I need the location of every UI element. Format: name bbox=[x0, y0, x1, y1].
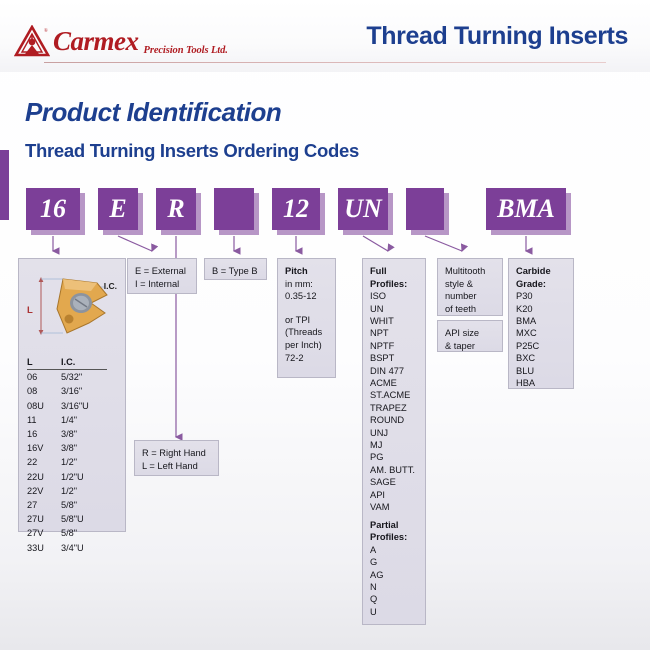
dimension-table-row: 27U5/8"U bbox=[27, 512, 119, 526]
brand-logo: ® Carmex Precision Tools Ltd. bbox=[14, 24, 228, 58]
pitch-mm-label: in mm: bbox=[285, 278, 328, 291]
dimension-table-header: LI.C. bbox=[27, 355, 119, 370]
header-divider bbox=[44, 62, 606, 63]
partial-profile-item: Q bbox=[370, 593, 418, 605]
internal-line: I = Internal bbox=[135, 278, 189, 291]
dimension-cell: 5/8" bbox=[61, 498, 107, 512]
dimension-table-row: 22V1/2" bbox=[27, 484, 119, 498]
dimension-cell: 06 bbox=[27, 370, 61, 384]
partial-profiles-title-1: Partial bbox=[370, 519, 418, 532]
full-profile-item: PG bbox=[370, 451, 418, 463]
dimension-cell: 3/4"U bbox=[61, 541, 107, 555]
partial-profiles-list: AGAGNQU bbox=[370, 544, 418, 618]
ic-dimension-label: I.C. bbox=[104, 281, 117, 291]
multitooth-line-2: style & bbox=[445, 278, 495, 291]
type-line: B = Type B bbox=[212, 265, 259, 278]
multitooth-line-4: of teeth bbox=[445, 303, 495, 316]
dimension-table-row: 065/32" bbox=[27, 370, 119, 384]
code-box-2: R bbox=[156, 188, 196, 230]
dimension-table-row: 08U3/16"U bbox=[27, 399, 119, 413]
pitch-tpi-note2: per Inch) bbox=[285, 339, 328, 352]
dimension-cell: 5/32" bbox=[61, 370, 107, 384]
dimension-table-row: 163/8" bbox=[27, 427, 119, 441]
dimension-table-row: 16V3/8" bbox=[27, 441, 119, 455]
dimension-table-row: 221/2" bbox=[27, 455, 119, 469]
carbide-grade-item: BXC bbox=[516, 352, 566, 364]
full-profile-item: MJ bbox=[370, 439, 418, 451]
code-box-0: 16 bbox=[26, 188, 80, 230]
full-profile-item: BSPT bbox=[370, 352, 418, 364]
dimension-header-cell: I.C. bbox=[61, 355, 107, 370]
partial-profile-item: N bbox=[370, 581, 418, 593]
dimension-cell: 5/8"U bbox=[61, 512, 107, 526]
brand-tagline: Precision Tools Ltd. bbox=[144, 45, 228, 56]
dimension-table-row: 083/16" bbox=[27, 384, 119, 398]
dimension-cell: 11 bbox=[27, 413, 61, 427]
pitch-tpi-range: 72-2 bbox=[285, 352, 328, 365]
dimension-table-row: 275/8" bbox=[27, 498, 119, 512]
carbide-grade-list: P30K20BMAMXCP25CBXCBLUHBA bbox=[516, 290, 566, 389]
section-subtitle: Thread Turning Inserts Ordering Codes bbox=[25, 140, 359, 162]
dimension-cell: 3/8" bbox=[61, 427, 107, 441]
carbide-grade-item: P25C bbox=[516, 340, 566, 352]
full-profiles-list: ISOUNWHITNPTNPTFBSPTDIN 477ACMEST.ACMETR… bbox=[370, 290, 418, 513]
insert-dimension-box: I.C. L LI.C.065/32"083/16"08U3/16"U111/4… bbox=[18, 258, 126, 532]
dimension-table-row: 111/4" bbox=[27, 413, 119, 427]
dimension-table: LI.C.065/32"083/16"08U3/16"U111/4"163/8"… bbox=[27, 355, 119, 555]
dimension-cell: 1/2"U bbox=[61, 470, 107, 484]
external-internal-box: E = External I = Internal bbox=[127, 258, 197, 294]
dimension-cell: 27V bbox=[27, 526, 61, 540]
full-profile-item: NPT bbox=[370, 327, 418, 339]
purple-accent-bar bbox=[0, 150, 9, 220]
pitch-mm-range: 0.35-12 bbox=[285, 290, 328, 303]
dimension-cell: 16 bbox=[27, 427, 61, 441]
code-box-1: E bbox=[98, 188, 138, 230]
dimension-table-row: 22U1/2"U bbox=[27, 470, 119, 484]
full-profile-item: WHIT bbox=[370, 315, 418, 327]
brand-name: Carmex bbox=[53, 28, 139, 55]
full-profile-item: ISO bbox=[370, 290, 418, 302]
full-profiles-title-1: Full bbox=[370, 265, 418, 278]
full-profile-item: VAM bbox=[370, 501, 418, 513]
hand-direction-box: R = Right Hand L = Left Hand bbox=[134, 440, 219, 476]
code-box-5: UN bbox=[338, 188, 388, 230]
full-profile-item: UNJ bbox=[370, 427, 418, 439]
pitch-tpi-note1: (Threads bbox=[285, 326, 328, 339]
full-profile-item: ST.ACME bbox=[370, 389, 418, 401]
api-size-box: API size & taper bbox=[437, 320, 503, 352]
profiles-box: Full Profiles: ISOUNWHITNPTNPTFBSPTDIN 4… bbox=[362, 258, 426, 625]
carbide-grade-box: Carbide Grade: P30K20BMAMXCP25CBXCBLUHBA bbox=[508, 258, 574, 389]
multitooth-box: Multitooth style & number of teeth bbox=[437, 258, 503, 316]
pitch-tpi-label: or TPI bbox=[285, 314, 328, 327]
dimension-cell: 16V bbox=[27, 441, 61, 455]
dimension-cell: 1/2" bbox=[61, 484, 107, 498]
full-profiles-title-2: Profiles: bbox=[370, 278, 418, 291]
dimension-cell: 22V bbox=[27, 484, 61, 498]
right-hand-line: R = Right Hand bbox=[142, 447, 211, 460]
carbide-grade-item: BMA bbox=[516, 315, 566, 327]
page-title: Thread Turning Inserts bbox=[366, 22, 628, 51]
dimension-cell: 3/8" bbox=[61, 441, 107, 455]
threading-insert-illustration-icon bbox=[19, 261, 127, 349]
full-profile-item: SAGE bbox=[370, 476, 418, 488]
dimension-cell: 3/16" bbox=[61, 384, 107, 398]
partial-profile-item: G bbox=[370, 556, 418, 568]
dimension-table-row: 33U3/4"U bbox=[27, 541, 119, 555]
dimension-cell: 3/16"U bbox=[61, 399, 107, 413]
dimension-cell: 22U bbox=[27, 470, 61, 484]
carbide-grade-item: MXC bbox=[516, 327, 566, 339]
full-profile-item: ROUND bbox=[370, 414, 418, 426]
dimension-cell: 27 bbox=[27, 498, 61, 512]
section-title: Product Identification bbox=[25, 97, 281, 128]
dimension-cell: 33U bbox=[27, 541, 61, 555]
partial-profiles-title-2: Profiles: bbox=[370, 531, 418, 544]
multitooth-line-3: number bbox=[445, 290, 495, 303]
full-profile-item: API bbox=[370, 489, 418, 501]
dimension-cell: 08U bbox=[27, 399, 61, 413]
partial-profile-item: A bbox=[370, 544, 418, 556]
code-box-7: BMA bbox=[486, 188, 566, 230]
carbide-title-2: Grade: bbox=[516, 278, 566, 291]
carbide-grade-item: BLU bbox=[516, 365, 566, 377]
dimension-cell: 1/4" bbox=[61, 413, 107, 427]
full-profile-item: ACME bbox=[370, 377, 418, 389]
dimension-header-cell: L bbox=[27, 355, 61, 370]
page-root: ® Carmex Precision Tools Ltd. Thread Tur… bbox=[0, 0, 650, 650]
external-line: E = External bbox=[135, 265, 189, 278]
pitch-box: Pitch in mm: 0.35-12 or TPI (Threads per… bbox=[277, 258, 336, 378]
partial-profile-item: U bbox=[370, 606, 418, 618]
pitch-title: Pitch bbox=[285, 265, 328, 278]
partial-profile-item: AG bbox=[370, 569, 418, 581]
full-profile-item: AM. BUTT. bbox=[370, 464, 418, 476]
dimension-table-row: 27V5/8" bbox=[27, 526, 119, 540]
carbide-title-1: Carbide bbox=[516, 265, 566, 278]
api-size-line: API size bbox=[445, 327, 495, 340]
dimension-cell: 1/2" bbox=[61, 455, 107, 469]
full-profile-item: DIN 477 bbox=[370, 365, 418, 377]
code-box-6 bbox=[406, 188, 444, 230]
dimension-cell: 27U bbox=[27, 512, 61, 526]
code-box-3 bbox=[214, 188, 254, 230]
multitooth-line-1: Multitooth bbox=[445, 265, 495, 278]
left-hand-line: L = Left Hand bbox=[142, 460, 211, 473]
carmex-triangle-logo-icon: ® bbox=[14, 25, 50, 57]
carbide-grade-item: P30 bbox=[516, 290, 566, 302]
page-header: ® Carmex Precision Tools Ltd. Thread Tur… bbox=[0, 0, 650, 72]
dimension-cell: 08 bbox=[27, 384, 61, 398]
carbide-grade-item: K20 bbox=[516, 303, 566, 315]
full-profile-item: NPTF bbox=[370, 340, 418, 352]
full-profile-item: TRAPEZ bbox=[370, 402, 418, 414]
l-dimension-label: L bbox=[27, 305, 33, 316]
dimension-cell: 22 bbox=[27, 455, 61, 469]
type-box: B = Type B bbox=[204, 258, 267, 280]
full-profile-item: UN bbox=[370, 303, 418, 315]
code-box-4: 12 bbox=[272, 188, 320, 230]
svg-text:®: ® bbox=[44, 28, 48, 34]
api-taper-line: & taper bbox=[445, 340, 495, 353]
carbide-grade-item: HBA bbox=[516, 377, 566, 389]
dimension-cell: 5/8" bbox=[61, 526, 107, 540]
